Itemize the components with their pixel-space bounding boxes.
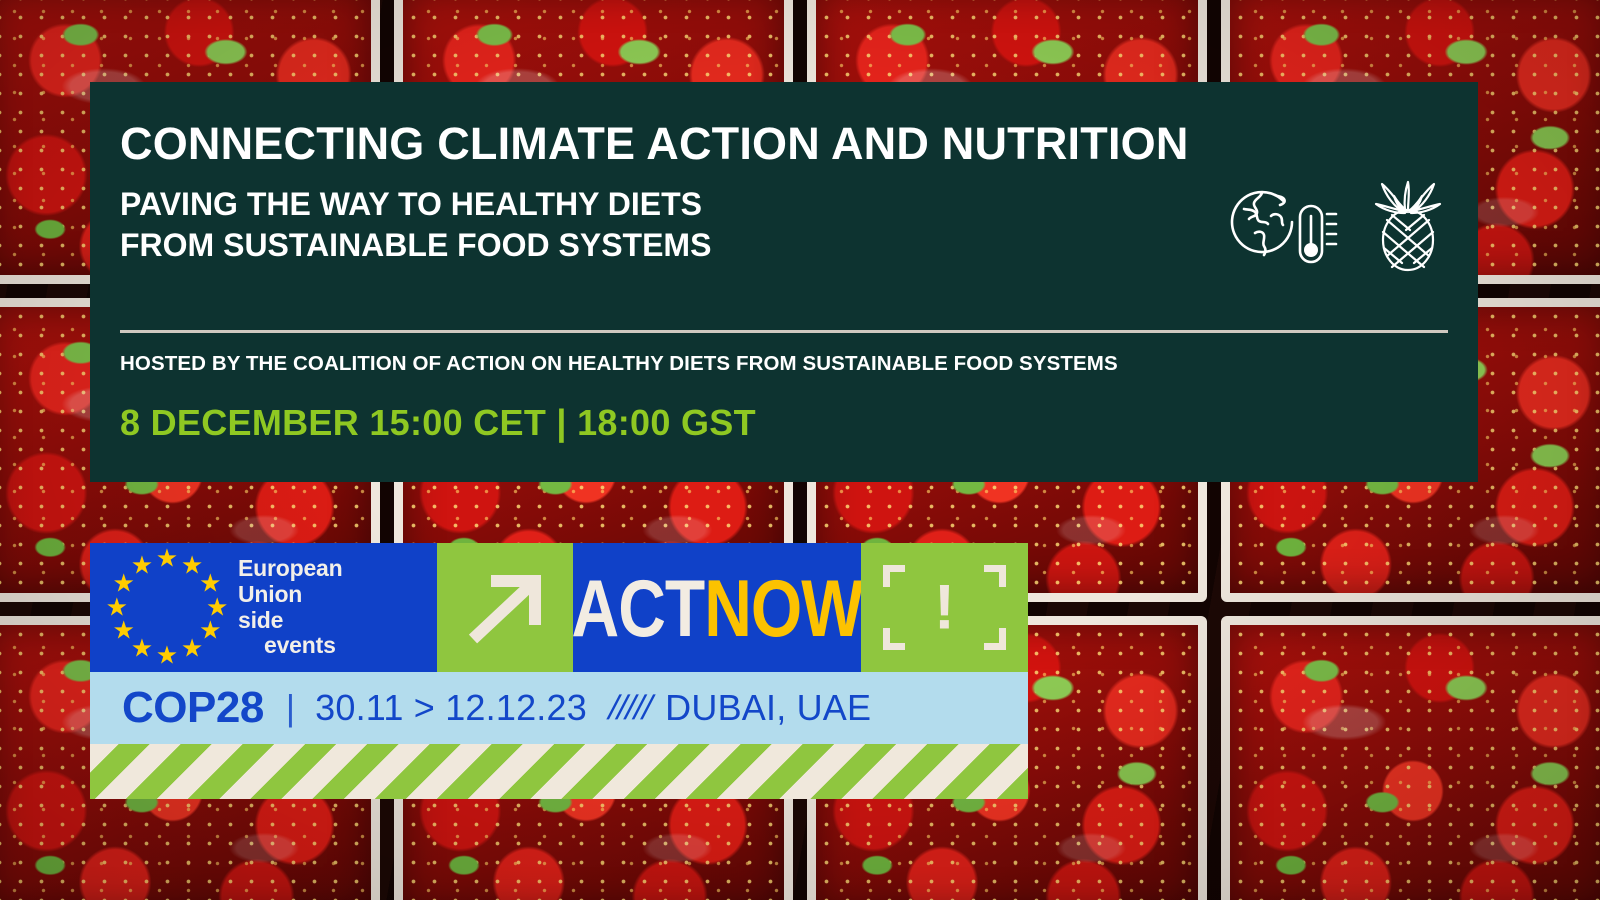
event-subtitle-line-2: FROM SUSTAINABLE FOOD SYSTEMS xyxy=(120,225,960,266)
eu-wordmark-line-1: European xyxy=(238,555,342,581)
diagonal-stripe-footer xyxy=(90,744,1028,799)
arrow-tile xyxy=(437,543,573,672)
banner-icon-group xyxy=(1230,172,1448,277)
cop28-slash-divider: ///// xyxy=(604,689,656,728)
lockup-top-row: ★ ★ ★ ★ ★ ★ ★ ★ ★ ★ ★ ★ European Union s… xyxy=(90,543,1028,672)
event-subtitle: PAVING THE WAY TO HEALTHY DIETS FROM SUS… xyxy=(120,184,960,266)
european-union-side-events-block: ★ ★ ★ ★ ★ ★ ★ ★ ★ ★ ★ ★ European Union s… xyxy=(90,543,437,672)
cop28-dates: 30.11 > 12.12.23 xyxy=(315,687,587,729)
event-subtitle-line-1: PAVING THE WAY TO HEALTHY DIETS xyxy=(120,186,702,222)
act-now-wordmark: ACTNOW xyxy=(572,567,863,648)
event-datetime: 8 DECEMBER 15:00 CET | 18:00 GST xyxy=(120,402,756,444)
cop28-location: DUBAI, UAE xyxy=(665,687,871,729)
eu-wordmark-line-2: Union xyxy=(238,581,302,607)
banner-divider xyxy=(120,330,1448,333)
alert-tile: ! xyxy=(861,543,1028,672)
now-word: NOW xyxy=(704,562,862,652)
event-title: CONNECTING CLIMATE ACTION AND NUTRITION xyxy=(120,120,1448,168)
globe-thermometer-icon xyxy=(1230,176,1338,273)
act-word: ACT xyxy=(572,562,705,652)
eu-wordmark-line-3: side xyxy=(238,607,283,633)
headline-banner: CONNECTING CLIMATE ACTION AND NUTRITION … xyxy=(90,82,1478,482)
cop28-event-name: COP28 xyxy=(122,683,264,733)
eu-flag-stars-icon: ★ ★ ★ ★ ★ ★ ★ ★ ★ ★ ★ ★ xyxy=(110,553,224,663)
hosted-by-text: HOSTED BY THE COALITION OF ACTION ON HEA… xyxy=(120,352,1118,376)
cop28-logo-lockup: ★ ★ ★ ★ ★ ★ ★ ★ ★ ★ ★ ★ European Union s… xyxy=(90,543,1028,799)
cop28-info-bar: COP28 | 30.11 > 12.12.23 ///// DUBAI, UA… xyxy=(90,672,1028,744)
exclamation-mark-glyph: ! xyxy=(934,576,955,639)
pineapple-icon xyxy=(1368,172,1448,277)
eu-wordmark-line-4: events xyxy=(238,633,342,659)
act-now-tile: ACTNOW xyxy=(573,543,861,672)
eu-side-events-wordmark: European Union side events xyxy=(238,556,342,659)
cop28-separator: | xyxy=(286,687,295,729)
